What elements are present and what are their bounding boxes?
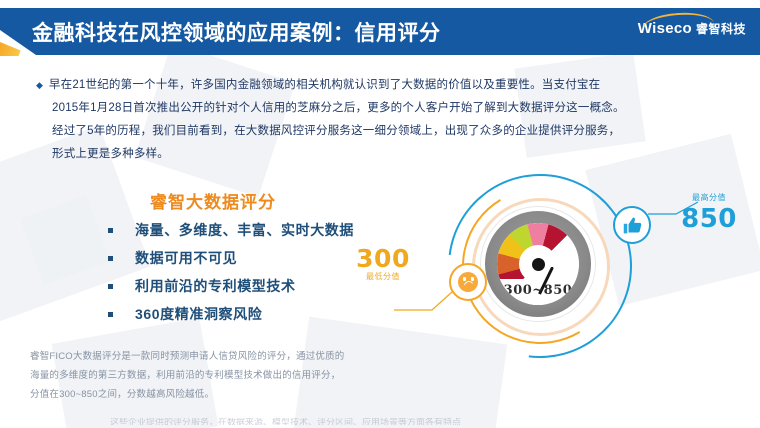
diamond-bullet-icon: ◆	[36, 76, 43, 94]
bullet-label: 海量、多维度、丰富、实时大数据	[135, 222, 354, 239]
square-bullet-icon	[108, 312, 113, 317]
square-bullet-icon	[108, 256, 113, 261]
footnote-line-2: 海量的多维度的第三方数据，利用前沿的专利模型技术做出的信用评分，	[30, 369, 360, 383]
sad-face-badge	[449, 263, 487, 301]
bullet-label: 数据可用不可见	[135, 250, 237, 267]
thumbs-up-badge	[613, 206, 651, 244]
bullet-label: 利用前沿的专利模型技术	[135, 278, 296, 295]
next-slide-cutoff-text: 这些企业提供的评分服务，在数据来源、模型技术、评分区间、应用场景等方面各有特点	[110, 418, 655, 425]
intro-line-1: 早在21世纪的第一个十年，许多国内金融领域的相关机构就认识到了大数据的价值以及重…	[49, 76, 600, 95]
sad-face-icon	[458, 272, 478, 292]
square-bullet-icon	[108, 228, 113, 233]
slide: 金融科技在风控领域的应用案例：信用评分 Wiseco 睿智科技 ◆ 早在21世纪…	[0, 0, 760, 428]
page-title: 金融科技在风控领域的应用案例：信用评分	[32, 17, 441, 47]
brand-logo: Wiseco 睿智科技	[638, 20, 746, 37]
square-bullet-icon	[108, 284, 113, 289]
footnote-text: 睿智FICO大数据评分是一款同时预测申请人信贷风险的评分，通过优质的 海量的多维…	[30, 350, 360, 407]
thumbs-up-icon	[622, 215, 643, 236]
intro-paragraph: ◆ 早在21世纪的第一个十年，许多国内金融领域的相关机构就认识到了大数据的价值以…	[36, 76, 736, 168]
min-score-value: 300	[348, 244, 418, 273]
min-score-caption: 最低分值	[348, 271, 418, 282]
gauge-range-label: 300~850	[497, 283, 579, 298]
list-item: 360度精准洞察风险	[108, 306, 408, 323]
credit-score-gauge-graphic: Poor Average Good Best 300~850	[400, 172, 730, 352]
bullet-label: 360度精准洞察风险	[135, 306, 262, 323]
gauge-dial: Poor Average Good Best 300~850	[485, 211, 591, 317]
intro-line-2: 2015年1月28日首次推出公开的针对个人信用的芝麻分之后，更多的个人客户开始了…	[52, 99, 736, 118]
section-subtitle: 睿智大数据评分	[150, 188, 276, 213]
gauge-hub	[532, 258, 545, 271]
footnote-line-1: 睿智FICO大数据评分是一款同时预测申请人信贷风险的评分，通过优质的	[30, 350, 360, 364]
intro-line-3: 经过了5年的历程，我们目前看到，在大数据风控评分服务这一细分领域上，出现了众多的…	[52, 122, 736, 141]
max-score-value: 850	[670, 204, 748, 234]
leader-line-min	[392, 290, 458, 312]
gauge-segments: 300~850	[497, 223, 579, 305]
list-item: 海量、多维度、丰富、实时大数据	[108, 222, 408, 239]
max-score-caption: 最高分值	[670, 192, 748, 203]
footnote-line-3: 分值在300~850之间，分数越高风险越低。	[30, 388, 360, 402]
intro-line-4: 形式上更是多种多样。	[52, 145, 736, 164]
